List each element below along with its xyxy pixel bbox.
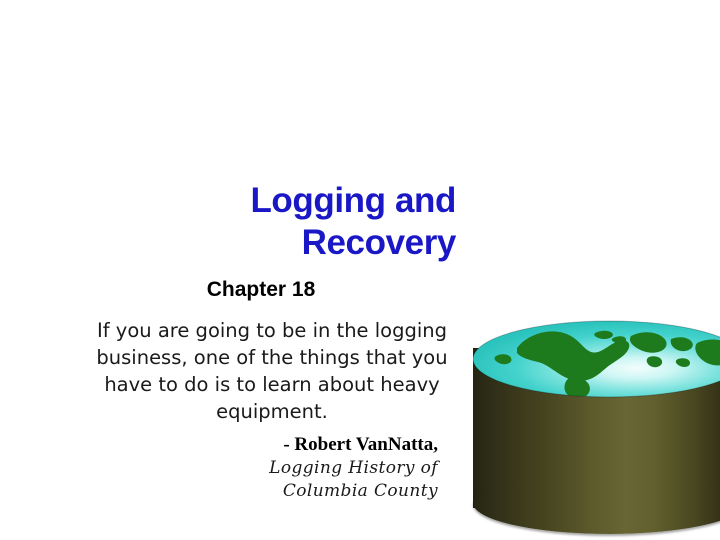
- attribution-author: - Robert VanNatta,: [80, 433, 438, 457]
- slide-text-block: Logging and Recovery Chapter 18 If you a…: [80, 180, 456, 503]
- chapter-subtitle: Chapter 18: [80, 277, 456, 303]
- presentation-slide: Logging and Recovery Chapter 18 If you a…: [0, 0, 720, 540]
- quote-attribution: - Robert VanNatta, Logging History of Co…: [80, 433, 456, 503]
- title-line-2: Recovery: [80, 222, 456, 264]
- cylinder-bottom-ellipse: [473, 472, 720, 534]
- attribution-work-line-1: Logging History of: [80, 457, 438, 480]
- quote-text: If you are going to be in the logging bu…: [80, 317, 456, 425]
- page-title: Logging and Recovery: [80, 180, 456, 264]
- globe-top-face: [473, 320, 720, 398]
- attribution-work-line-2: Columbia County: [80, 480, 438, 503]
- title-line-1: Logging and: [80, 180, 456, 222]
- globe-cylinder-illustration: [473, 320, 720, 535]
